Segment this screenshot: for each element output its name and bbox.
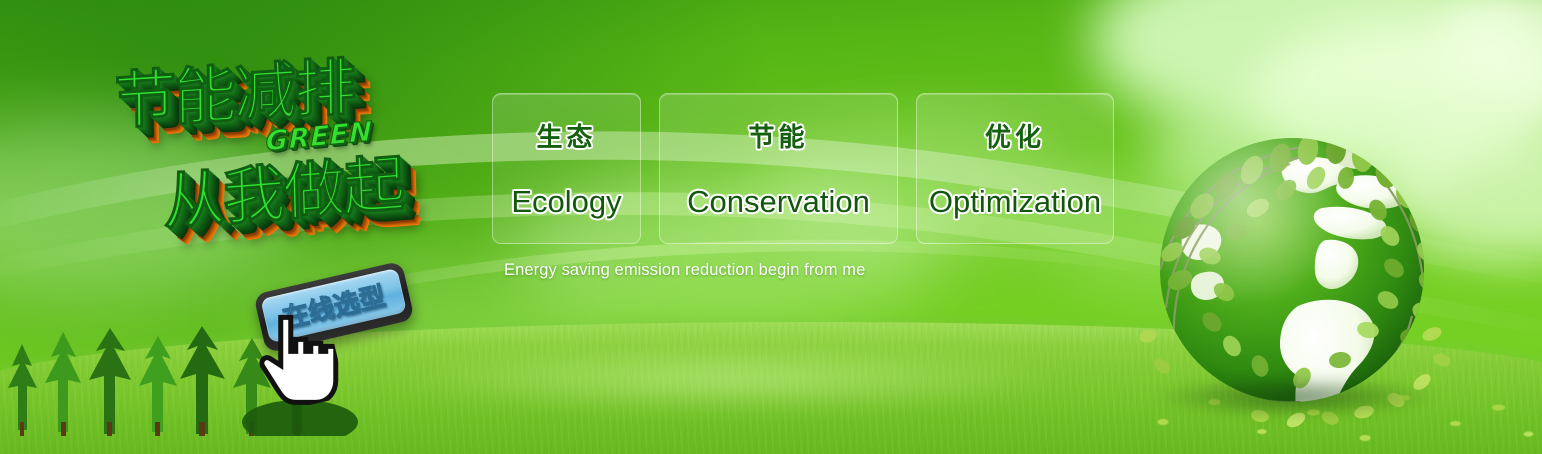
card-conservation[interactable]: 节能 Conservation — [659, 93, 898, 244]
globe-shadow — [1156, 376, 1436, 418]
card-title-cn: 优化 — [985, 117, 1045, 154]
card-title-en: Ecology — [511, 184, 621, 220]
card-title-en: Optimization — [929, 184, 1101, 220]
card-ecology[interactable]: 生态 Ecology — [492, 93, 641, 244]
banner-root: 节能减排 GREEN 从我做起 在线选型 生态 Ecology 节能 Conse… — [0, 0, 1542, 454]
grass-highlight — [380, 344, 1080, 414]
cloud-icon — [1090, 0, 1542, 140]
card-title-cn: 生态 — [536, 117, 596, 154]
leafy-earth-globe-icon — [1140, 120, 1450, 430]
cloud-icon — [1440, 0, 1542, 100]
headline-line-2: 从我做起 — [162, 133, 404, 242]
tagline: Energy saving emission reduction begin f… — [504, 261, 865, 280]
headline-3d-artwork: 节能减排 GREEN 从我做起 — [97, 33, 493, 273]
card-title-cn: 节能 — [748, 117, 808, 154]
feature-cards: 生态 Ecology 节能 Conservation 优化 Optimizati… — [492, 93, 1114, 244]
card-optimization[interactable]: 优化 Optimization — [916, 93, 1114, 244]
card-title-en: Conservation — [687, 184, 870, 220]
